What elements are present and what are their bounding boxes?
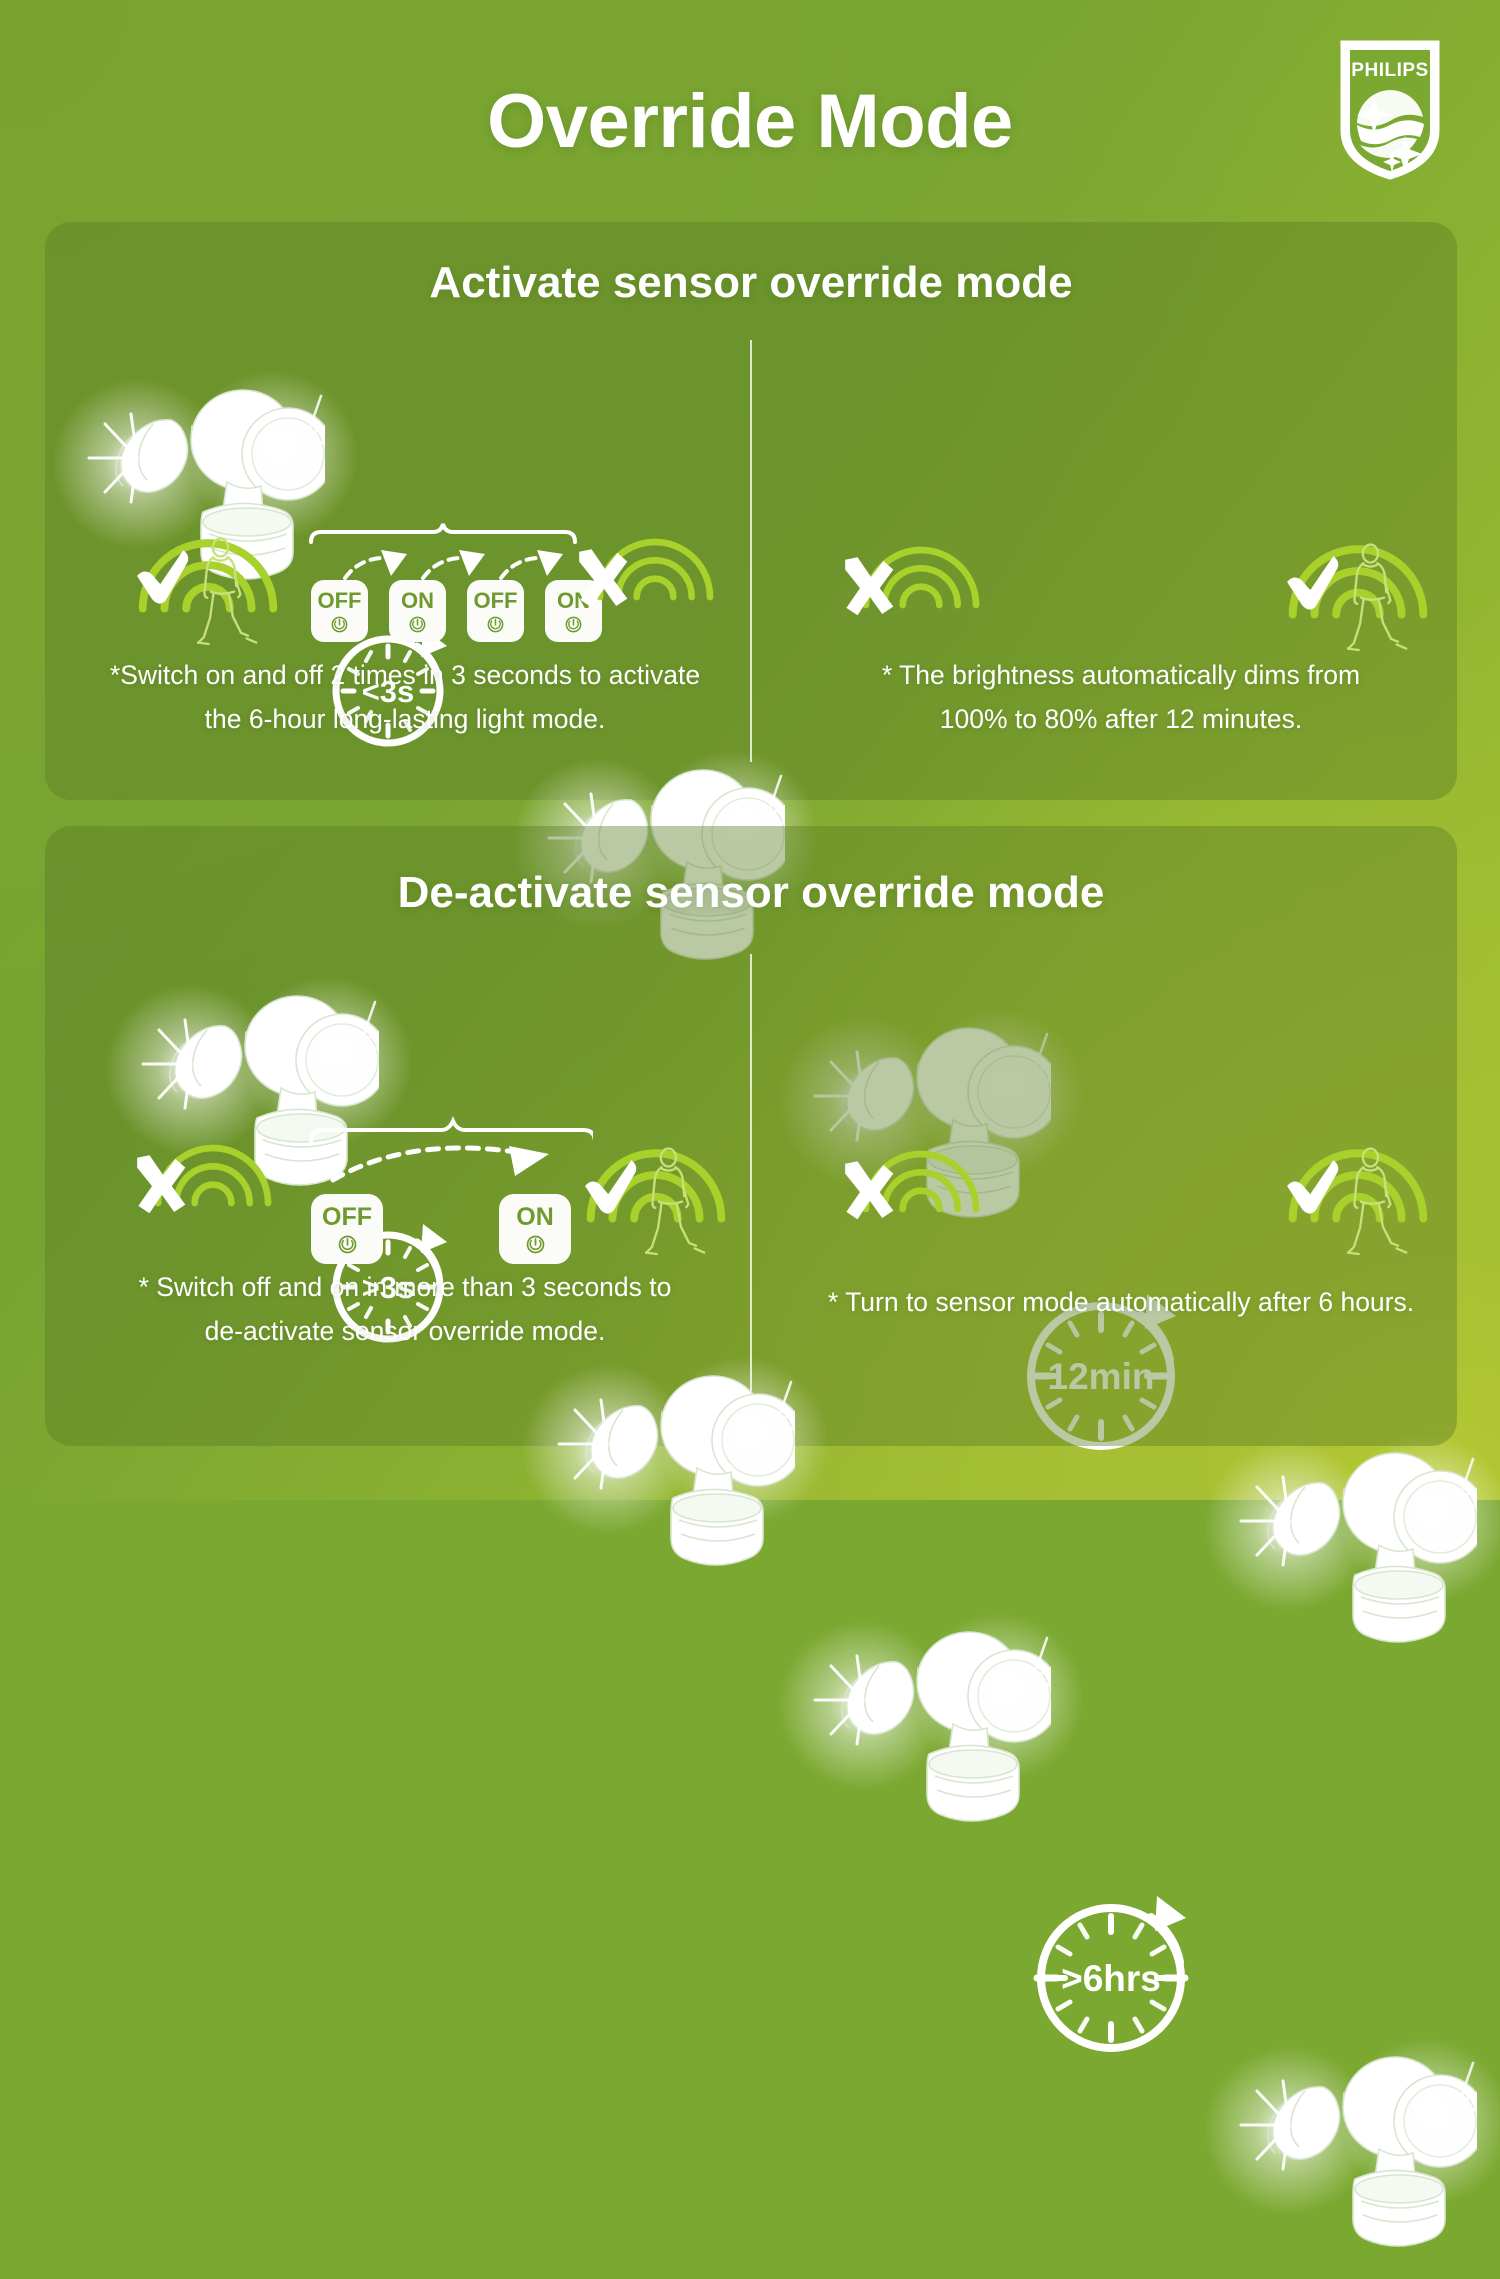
clock-arrow-icon: >6hrs: [1023, 1886, 1203, 2061]
sensor-light-override-right-2: [801, 1604, 1051, 1854]
switch-button-off-1[interactable]: OFF: [311, 580, 368, 642]
timer-label: >6hrs: [1061, 1958, 1161, 1999]
caption-deactivate-left: * Switch off and on in more than 3 secon…: [85, 1266, 725, 1353]
sequence-arrow-icon: [303, 1114, 593, 1194]
switch-button-on-1[interactable]: ON: [389, 580, 446, 642]
sensor-light-active-right: [1227, 1425, 1477, 1675]
power-icon: [338, 1235, 357, 1254]
switch-label: OFF: [318, 590, 362, 612]
page-title: Override Mode: [0, 78, 1500, 165]
panel-title-activate: Activate sensor override mode: [45, 258, 1457, 308]
caption-deactivate-right: * Turn to sensor mode automatically afte…: [785, 1281, 1457, 1325]
person-walking-icon: [1347, 540, 1409, 658]
cross-icon: [839, 554, 897, 616]
switch-label: OFF: [474, 590, 518, 612]
caption-line: 100% to 80% after 12 minutes.: [801, 698, 1441, 742]
sensor-light-icon: [545, 1348, 795, 1598]
switch-sequence-deactivate: OFF ON: [303, 1114, 593, 1254]
check-icon: [133, 544, 197, 612]
sequence-arrows-icon: [303, 518, 583, 588]
cross-icon: [839, 1158, 897, 1220]
switch-label: ON: [401, 590, 434, 612]
motion-disabled-group-left: [565, 502, 765, 642]
power-icon: [331, 616, 348, 633]
sensor-light-icon: [801, 1604, 1051, 1854]
caption-line: * Turn to sensor mode automatically afte…: [785, 1281, 1457, 1325]
panel-title-deactivate: De-activate sensor override mode: [45, 868, 1457, 918]
person-walking-icon: [645, 1144, 707, 1262]
motion-disabled-group-left-2: [123, 1108, 323, 1248]
caption-line: * The brightness automatically dims from: [801, 654, 1441, 698]
sensor-light-active-left-2: [545, 1348, 795, 1598]
power-icon: [526, 1235, 545, 1254]
panel-deactivate-sensor-override: De-activate sensor override mode: [45, 826, 1457, 1446]
motion-detected-group-left-2: [553, 1112, 753, 1292]
switch-label: ON: [516, 1205, 554, 1230]
panel-activate-sensor-override: Activate sensor override mode: [45, 222, 1457, 800]
power-icon: [409, 616, 426, 633]
switch-label: OFF: [322, 1205, 372, 1230]
motion-disabled-group-right-2: [831, 1114, 1031, 1254]
caption-activate-left: *Switch on and off 2 times in 3 seconds …: [85, 654, 725, 741]
sensor-light-icon: [1227, 1425, 1477, 1675]
philips-logo: PHILIPS: [1338, 40, 1442, 180]
motion-disabled-group-right: [831, 510, 1031, 650]
caption-activate-right: * The brightness automatically dims from…: [801, 654, 1441, 741]
cross-icon: [131, 1152, 189, 1214]
person-walking-icon: [1347, 1144, 1409, 1262]
infographic-stage: Override Mode PHILIPS Activate sensor ov…: [0, 0, 1500, 1500]
philips-wordmark: PHILIPS: [1351, 60, 1428, 81]
caption-line: de-activate sensor override mode.: [85, 1310, 725, 1354]
caption-line: * Switch off and on in more than 3 secon…: [85, 1266, 725, 1310]
sensor-light-active-right-2: [1227, 2029, 1477, 2279]
timer-more-than-6-hours: >6hrs: [1023, 1886, 1203, 2061]
cross-icon: [573, 546, 631, 608]
check-icon: [1283, 1154, 1347, 1222]
caption-line: the 6-hour long-lasting light mode.: [85, 698, 725, 742]
check-icon: [581, 1154, 645, 1222]
check-icon: [1283, 550, 1347, 618]
sensor-light-icon: [1227, 2029, 1477, 2279]
switch-sequence-activate: OFF ON OFF ON: [303, 518, 583, 648]
switch-button-off[interactable]: OFF: [311, 1194, 383, 1264]
switch-button-off-2[interactable]: OFF: [467, 580, 524, 642]
power-icon: [487, 616, 504, 633]
person-walking-icon: [197, 534, 259, 652]
motion-detected-group-right-2: [1255, 1112, 1455, 1292]
caption-line: *Switch on and off 2 times in 3 seconds …: [85, 654, 725, 698]
